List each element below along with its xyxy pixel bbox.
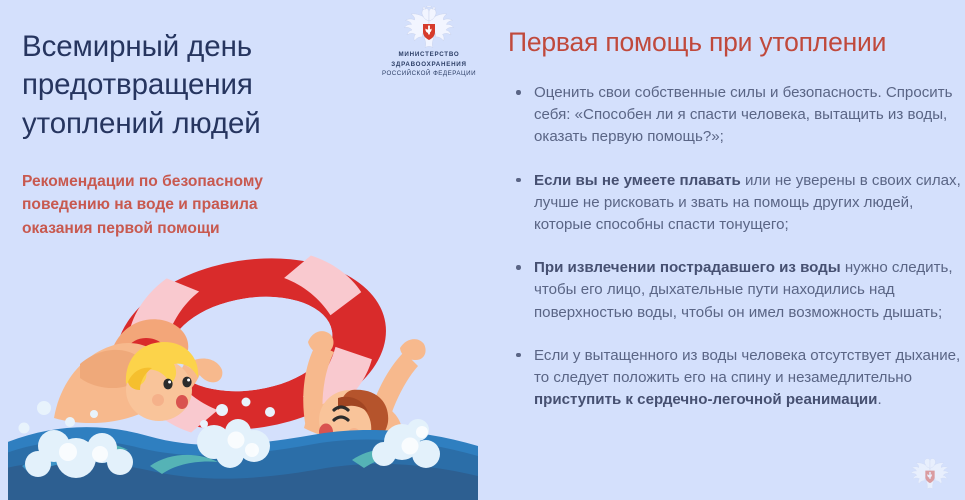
first-aid-item: Оценить свои собственные силы и безопасн… bbox=[512, 82, 964, 149]
page-subtitle: Рекомендации по безопасному поведению на… bbox=[22, 170, 322, 240]
left-panel: Всемирный день предотвращения утоплений … bbox=[0, 0, 470, 500]
bullet-icon bbox=[516, 90, 521, 95]
first-aid-item: Если у вытащенного из воды человека отсу… bbox=[512, 345, 964, 412]
right-panel: Первая помощь при утоплении Оценить свои… bbox=[470, 0, 965, 500]
ministry-logo-text: МИНИСТЕРСТВО ЗДРАВООХРАНЕНИЯ РОССИЙСКОЙ … bbox=[373, 50, 485, 79]
first-aid-text: . bbox=[877, 391, 881, 408]
first-aid-text: Если у вытащенного из воды человека отсу… bbox=[534, 347, 960, 386]
page-title: Всемирный день предотвращения утоплений … bbox=[22, 28, 352, 143]
ministry-logo: МИНИСТЕРСТВО ЗДРАВООХРАНЕНИЯ РОССИЙСКОЙ … bbox=[373, 6, 485, 79]
first-aid-list: Оценить свои собственные силы и безопасн… bbox=[512, 82, 964, 411]
ministry-emblem-watermark bbox=[909, 456, 951, 490]
first-aid-item: При извлечении пострадавшего из воды нуж… bbox=[512, 257, 964, 324]
first-aid-text: Оценить свои собственные силы и безопасн… bbox=[534, 84, 952, 145]
bullet-icon bbox=[516, 265, 521, 270]
ministry-logo-line-3: РОССИЙСКОЙ ФЕДЕРАЦИИ bbox=[373, 69, 485, 79]
first-aid-text-emphasis: Если вы не умеете плавать bbox=[534, 172, 741, 189]
poster-root: Всемирный день предотвращения утоплений … bbox=[0, 0, 965, 500]
first-aid-text-emphasis: При извлечении пострадавшего из воды bbox=[534, 259, 841, 276]
first-aid-item: Если вы не умеете плавать или не уверены… bbox=[512, 170, 964, 237]
russian-ministry-of-health-emblem-icon bbox=[402, 6, 456, 48]
swimming-children-illustration bbox=[8, 232, 478, 500]
first-aid-heading: Первая помощь при утоплении bbox=[508, 27, 965, 59]
ministry-emblem-watermark-icon bbox=[909, 456, 951, 490]
bullet-icon bbox=[516, 178, 521, 183]
ministry-logo-line-1: МИНИСТЕРСТВО bbox=[373, 50, 485, 60]
first-aid-text-emphasis: приступить к сердечно-легочной реанимаци… bbox=[534, 391, 877, 408]
swimming-children-graphic bbox=[8, 232, 478, 500]
bullet-icon bbox=[516, 353, 521, 358]
ministry-logo-line-2: ЗДРАВООХРАНЕНИЯ bbox=[373, 60, 485, 70]
